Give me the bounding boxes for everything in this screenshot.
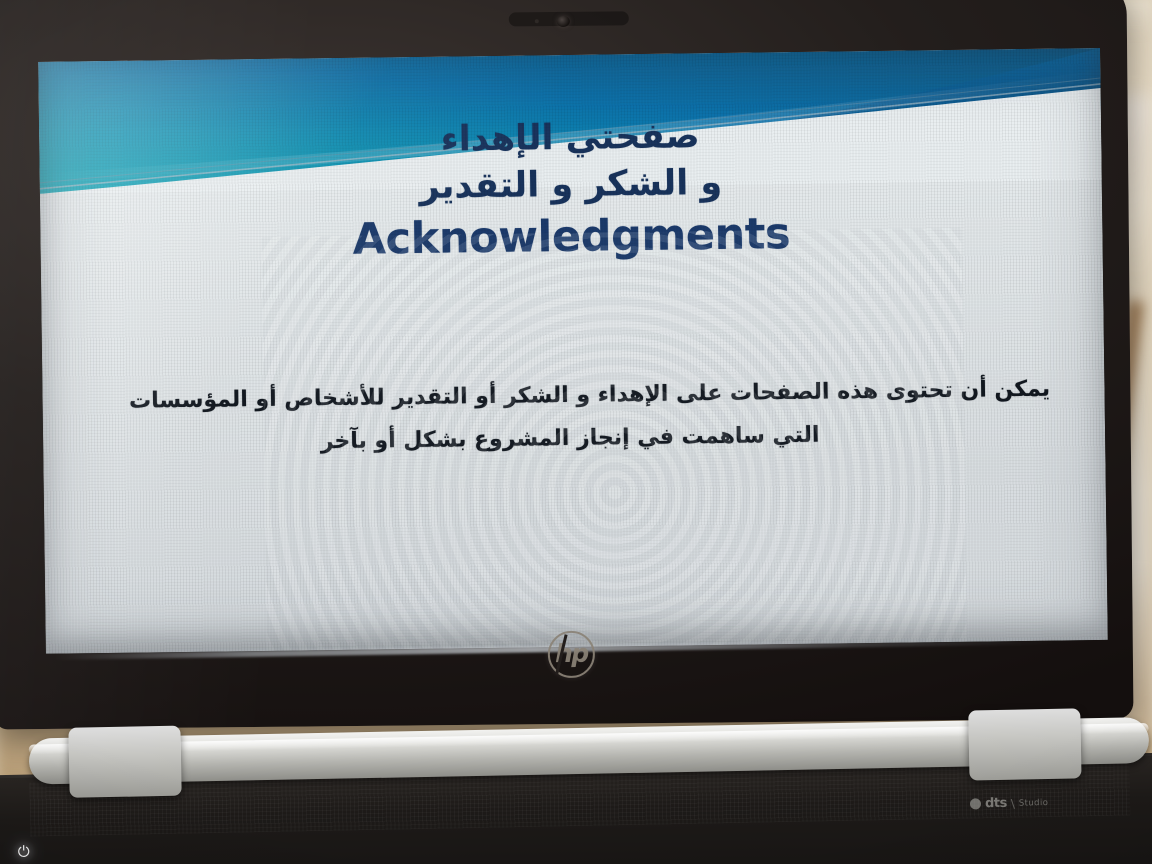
slide-title-block: صفحتي الإهداء و الشكر و التقدير Acknowle…: [39, 108, 1103, 269]
dts-divider: \: [1011, 796, 1015, 810]
slide-body-text: يمكن أن تحتوى هذه الصفحات على الإهداء و …: [110, 368, 1069, 466]
dts-mark-icon: [970, 798, 981, 809]
dts-logo: dts \ Studio: [970, 795, 1049, 812]
dts-logo-subtext: Studio: [1019, 798, 1049, 809]
laptop-photo-scene: صفحتي الإهداء و الشكر و التقدير Acknowle…: [0, 0, 1152, 864]
laptop-base: ⏻ dts \ Studio: [0, 700, 1152, 864]
hinge-cap-left: [68, 726, 181, 798]
hinge-cap-right: [968, 708, 1081, 780]
laptop-screen[interactable]: صفحتي الإهداء و الشكر و التقدير Acknowle…: [38, 48, 1108, 654]
dts-logo-text: dts: [985, 796, 1007, 811]
webcam-mic-dot: [535, 19, 539, 23]
webcam-icon: [557, 16, 570, 27]
presentation-slide: صفحتي الإهداء و الشكر و التقدير Acknowle…: [38, 48, 1108, 654]
slide-title-english: Acknowledgments: [40, 205, 1103, 269]
laptop-lid: صفحتي الإهداء و الشكر و التقدير Acknowle…: [0, 0, 1134, 729]
